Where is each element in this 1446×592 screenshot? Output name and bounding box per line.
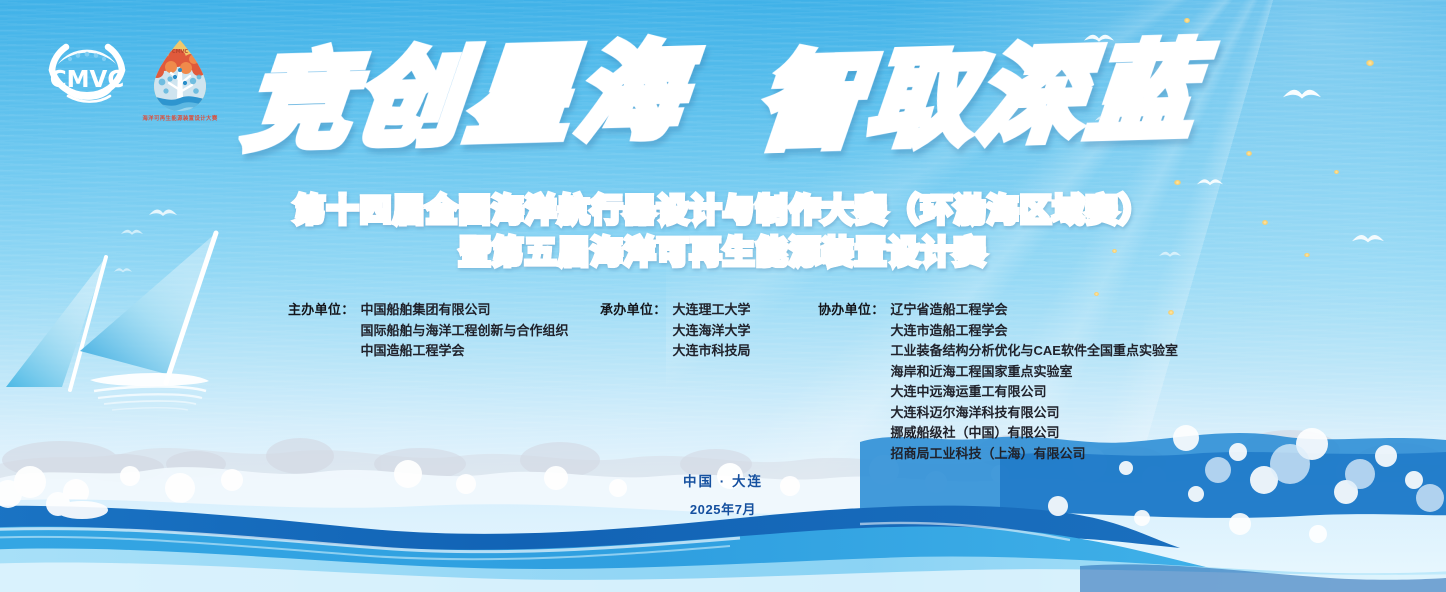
organiser-item: 大连科迈尔海洋科技有限公司 — [891, 403, 1178, 424]
organiser-list: 大连理工大学 大连海洋大学 大连市科技局 — [673, 300, 751, 362]
droplet-logo-top-text: CMVC — [172, 49, 189, 55]
organiser-item: 挪威船级社（中国）有限公司 — [891, 423, 1178, 444]
footer-city: 中国 · 大连 — [0, 470, 1446, 490]
poster-banner: CMVC — [0, 0, 1446, 592]
organiser-item: 辽宁省造船工程学会 — [891, 300, 1178, 321]
organiser-list: 中国船舶集团有限公司 国际船舶与海洋工程创新与合作组织 中国造船工程学会 — [361, 300, 569, 362]
organiser-label: 承办单位： — [600, 300, 667, 321]
organiser-label: 协办单位： — [818, 300, 885, 321]
organiser-item: 大连市造船工程学会 — [891, 321, 1178, 342]
footer-location-block: 中国 · 大连 2025年7月 — [0, 470, 1446, 518]
footer-date: 2025年7月 — [0, 499, 1446, 518]
water-droplet-logo: CMVC 海洋可再生能源装置设计大赛 — [144, 36, 216, 122]
subtitle-line-2: 暨第五届海洋可再生能源装置设计赛 — [0, 238, 1446, 269]
droplet-logo-caption: 海洋可再生能源装置设计大赛 — [142, 114, 217, 122]
headline-part-2: 智取深蓝 — [754, 36, 1206, 157]
subtitle-line-1: 第十四届全国海洋航行器设计与制作大赛（环渤海区域赛） — [0, 196, 1446, 227]
organiser-item: 中国船舶集团有限公司 — [361, 300, 569, 321]
organiser-item: 海岸和近海工程国家重点实验室 — [891, 362, 1178, 383]
golden-particle — [1334, 170, 1339, 174]
organiser-item: 大连中远海运重工有限公司 — [891, 382, 1178, 403]
organiser-item: 大连市科技局 — [673, 341, 751, 362]
organiser-block-organize: 承办单位： 大连理工大学 大连海洋大学 大连市科技局 — [600, 300, 751, 362]
cmvc-circle-logo: CMVC — [44, 36, 130, 116]
organiser-item: 国际船舶与海洋工程创新与合作组织 — [361, 321, 569, 342]
golden-particle — [1246, 151, 1252, 156]
headline: 竞创星海 智取深蓝 — [0, 42, 1446, 151]
golden-particle — [1174, 180, 1181, 185]
organiser-item: 大连理工大学 — [673, 300, 751, 321]
subtitle-group: 第十四届全国海洋航行器设计与制作大赛（环渤海区域赛） 暨第五届海洋可再生能源装置… — [0, 196, 1446, 269]
cmvc-logo-text: CMVC — [50, 67, 124, 93]
organiser-item: 招商局工业科技（上海）有限公司 — [891, 444, 1178, 465]
organiser-label: 主办单位： — [288, 300, 355, 321]
organiser-block-support: 协办单位： 辽宁省造船工程学会 大连市造船工程学会 工业装备结构分析优化与CAE… — [818, 300, 1178, 464]
organiser-item: 大连海洋大学 — [673, 321, 751, 342]
organiser-block-host: 主办单位： 中国船舶集团有限公司 国际船舶与海洋工程创新与合作组织 中国造船工程… — [288, 300, 569, 362]
golden-particle — [1094, 292, 1099, 296]
organiser-item: 中国造船工程学会 — [361, 341, 569, 362]
golden-particle — [1184, 18, 1190, 23]
organiser-item: 工业装备结构分析优化与CAE软件全国重点实验室 — [891, 341, 1178, 362]
organiser-list: 辽宁省造船工程学会 大连市造船工程学会 工业装备结构分析优化与CAE软件全国重点… — [891, 300, 1178, 464]
seagull-icon — [1196, 176, 1224, 194]
logo-group: CMVC — [44, 36, 216, 122]
headline-part-1: 竞创星海 — [241, 36, 693, 157]
